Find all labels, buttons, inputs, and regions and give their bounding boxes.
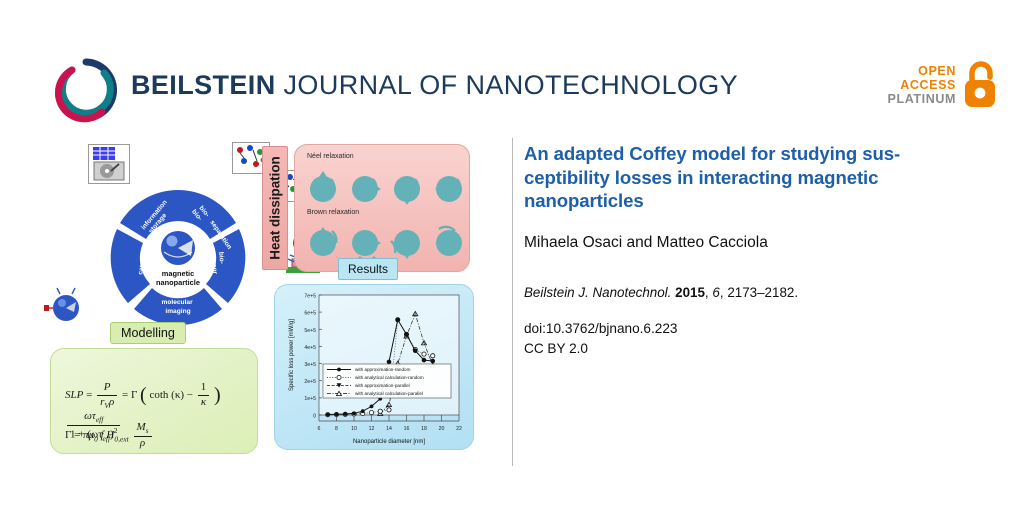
chart-legend: with approximation-random with analytica… bbox=[323, 364, 451, 398]
slp-vs-diameter-chart: 7e+5 6e+5 5e+5 4e+5 3e+5 2e+5 1e+5 0 Spe… bbox=[275, 285, 475, 451]
article-title-line-2: ceptibility losses in interacting magnet… bbox=[524, 167, 878, 188]
equation-slp-gamma: Γ bbox=[131, 389, 137, 401]
modelling-label: Modelling bbox=[110, 322, 186, 344]
chart-xtick-3: 12 bbox=[369, 426, 375, 432]
chart-legend-item-1: with analytical calculation-random bbox=[355, 375, 424, 380]
equation-slp-fraction-kappa: 1 κ bbox=[198, 381, 210, 410]
journal-wordmark-rest: JOURNAL OF NANOTECHNOLOGY bbox=[276, 70, 738, 100]
chart-ytick-3: 3e+5 bbox=[304, 362, 316, 368]
chart-x-axis-label: Nanoparticle diameter [nm] bbox=[353, 439, 425, 445]
chart-xtick-5: 16 bbox=[404, 426, 410, 432]
article-title-line-3: nanoparticles bbox=[524, 190, 644, 211]
modelling-panel: SLP = P rVρ = Γ ( coth (κ) − 1 κ ) ωτeff bbox=[50, 348, 258, 454]
open-access-line-platinum: PLATINUM bbox=[888, 92, 956, 106]
article-title-line-1: An adapted Coffey model for studying sus… bbox=[524, 143, 900, 164]
brown-relaxation-row bbox=[303, 221, 465, 263]
chart-ytick-1: 1e+5 bbox=[304, 396, 316, 402]
chart-ytick-6: 6e+5 bbox=[304, 311, 316, 317]
chart-xtick-0: 6 bbox=[318, 426, 321, 432]
article-doi: doi:10.3762/bjnano.6.223 bbox=[524, 321, 677, 336]
wheel-center-label-line1: magnetic bbox=[162, 269, 194, 278]
chart-xtick-7: 20 bbox=[439, 426, 445, 432]
equation-gamma-fraction: Ms ρ bbox=[134, 421, 152, 450]
open-access-line-access: ACCESS bbox=[888, 78, 956, 92]
equation-slp-lhs: SLP bbox=[65, 389, 83, 401]
page-header: BEILSTEIN JOURNAL OF NANOTECHNOLOGY OPEN… bbox=[0, 0, 1024, 130]
chart-ytick-5: 5e+5 bbox=[304, 328, 316, 334]
beilstein-circles-logo bbox=[52, 56, 120, 124]
catalysis-icon bbox=[44, 286, 86, 326]
chart-xtick-1: 8 bbox=[335, 426, 338, 432]
article-metadata: An adapted Coffey model for studying sus… bbox=[524, 142, 994, 358]
chart-ytick-4: 4e+5 bbox=[304, 345, 316, 351]
open-access-badge: OPEN ACCESS PLATINUM bbox=[888, 58, 1000, 112]
article-citation: Beilstein J. Nanotechnol. 2015, 6, 2173–… bbox=[524, 285, 994, 300]
neel-relaxation-row bbox=[303, 165, 465, 207]
citation-pages: 2173–2182. bbox=[727, 285, 798, 300]
open-access-line-open: OPEN bbox=[888, 64, 956, 78]
open-access-text: OPEN ACCESS PLATINUM bbox=[888, 64, 956, 106]
chart-legend-item-2: with approximation-parallel bbox=[355, 383, 410, 388]
article-cover-page: BEILSTEIN JOURNAL OF NANOTECHNOLOGY OPEN… bbox=[0, 0, 1024, 512]
citation-journal-name: Beilstein J. Nanotechnol. bbox=[524, 285, 671, 300]
column-divider bbox=[512, 138, 513, 466]
equation-slp-coth: coth (κ) bbox=[149, 389, 184, 401]
journal-wordmark-brand: BEILSTEIN bbox=[131, 70, 276, 100]
application-wheel-diagram: magnetic nanoparticle information storag… bbox=[98, 178, 258, 338]
heat-dissipation-label: Heat dissipation bbox=[262, 146, 288, 270]
chart-legend-item-0: with approximation-random bbox=[355, 367, 411, 372]
citation-volume: 6 bbox=[712, 285, 719, 300]
chart-y-axis-label: Specific loss power [mW/g] bbox=[289, 319, 295, 391]
chart-xtick-2: 10 bbox=[351, 426, 357, 432]
results-label: Results bbox=[338, 258, 398, 280]
graphical-abstract: MRI bbox=[36, 136, 476, 466]
chart-legend-item-3: with analytical calculation-parallel bbox=[355, 391, 423, 396]
chart-xtick-6: 18 bbox=[421, 426, 427, 432]
citation-year: 2015 bbox=[675, 285, 705, 300]
journal-wordmark: BEILSTEIN JOURNAL OF NANOTECHNOLOGY bbox=[131, 70, 738, 101]
chart-ytick-2: 2e+5 bbox=[304, 379, 316, 385]
equation-gamma: Γ = πμ0 f H0,ext Ms ρ bbox=[65, 421, 154, 450]
chart-ytick-7: 7e+5 bbox=[304, 294, 316, 300]
article-license: CC BY 2.0 bbox=[524, 341, 588, 356]
chart-ytick-0: 0 bbox=[313, 413, 316, 419]
neel-relaxation-caption: Néel relaxation bbox=[307, 153, 354, 160]
heat-dissipation-label-text: Heat dissipation bbox=[268, 156, 283, 259]
page-title: An adapted Coffey model for studying sus… bbox=[524, 142, 994, 213]
wheel-center-label-line2: nanoparticle bbox=[156, 278, 200, 287]
chart-xtick-4: 14 bbox=[386, 426, 392, 432]
equation-slp-fraction-1: P rVρ bbox=[97, 381, 117, 410]
brown-relaxation-caption: Brown relaxation bbox=[307, 209, 359, 216]
article-authors: Mihaela Osaci and Matteo Cacciola bbox=[524, 234, 994, 252]
open-lock-icon bbox=[962, 60, 1000, 110]
chart-xtick-8: 22 bbox=[456, 426, 462, 432]
article-doi-license: doi:10.3762/bjnano.6.223 CC BY 2.0 bbox=[524, 319, 994, 358]
heat-dissipation-panel: Néel relaxation bbox=[294, 144, 470, 272]
equation-gamma-lhs: Γ bbox=[65, 429, 71, 441]
results-chart-panel: 7e+5 6e+5 5e+5 4e+5 3e+5 2e+5 1e+5 0 Spe… bbox=[274, 284, 474, 450]
